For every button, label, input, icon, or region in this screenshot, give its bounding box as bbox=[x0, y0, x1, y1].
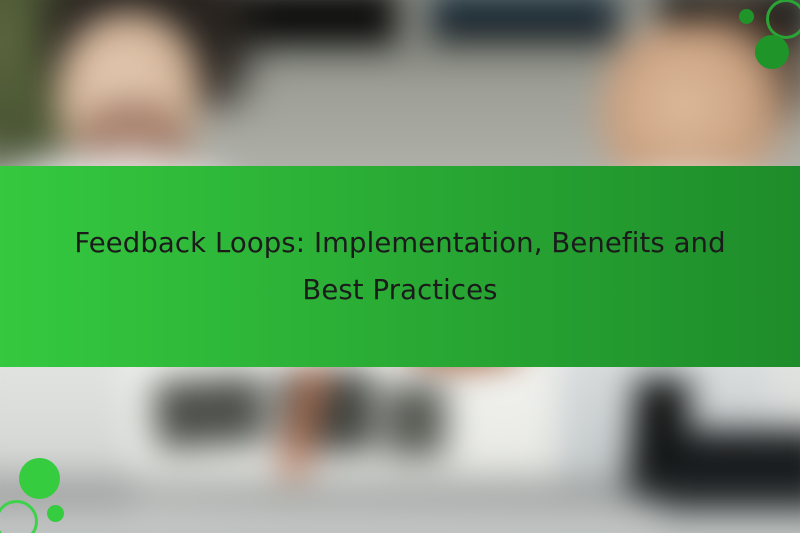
decor-dot-large-bottom-left bbox=[19, 458, 60, 499]
background-document-block-a bbox=[153, 374, 267, 450]
title-banner: Feedback Loops: Implementation, Benefits… bbox=[0, 166, 800, 367]
background-document-block-c bbox=[384, 384, 446, 456]
decor-dot-large-top-right bbox=[755, 35, 789, 69]
page-title: Feedback Loops: Implementation, Benefits… bbox=[50, 220, 750, 314]
page-title-line-2: Best Practices bbox=[302, 274, 497, 306]
background-desk-edge bbox=[0, 465, 800, 505]
article-hero-card: Feedback Loops: Implementation, Benefits… bbox=[0, 0, 800, 533]
decor-dot-small-bottom-left bbox=[47, 505, 64, 522]
page-title-line-1: Feedback Loops: Implementation, Benefits… bbox=[74, 227, 725, 259]
decor-dot-small-top-right bbox=[739, 9, 754, 24]
decor-ring-top-right bbox=[766, 0, 800, 39]
background-shelf-panel-center bbox=[430, 0, 618, 40]
